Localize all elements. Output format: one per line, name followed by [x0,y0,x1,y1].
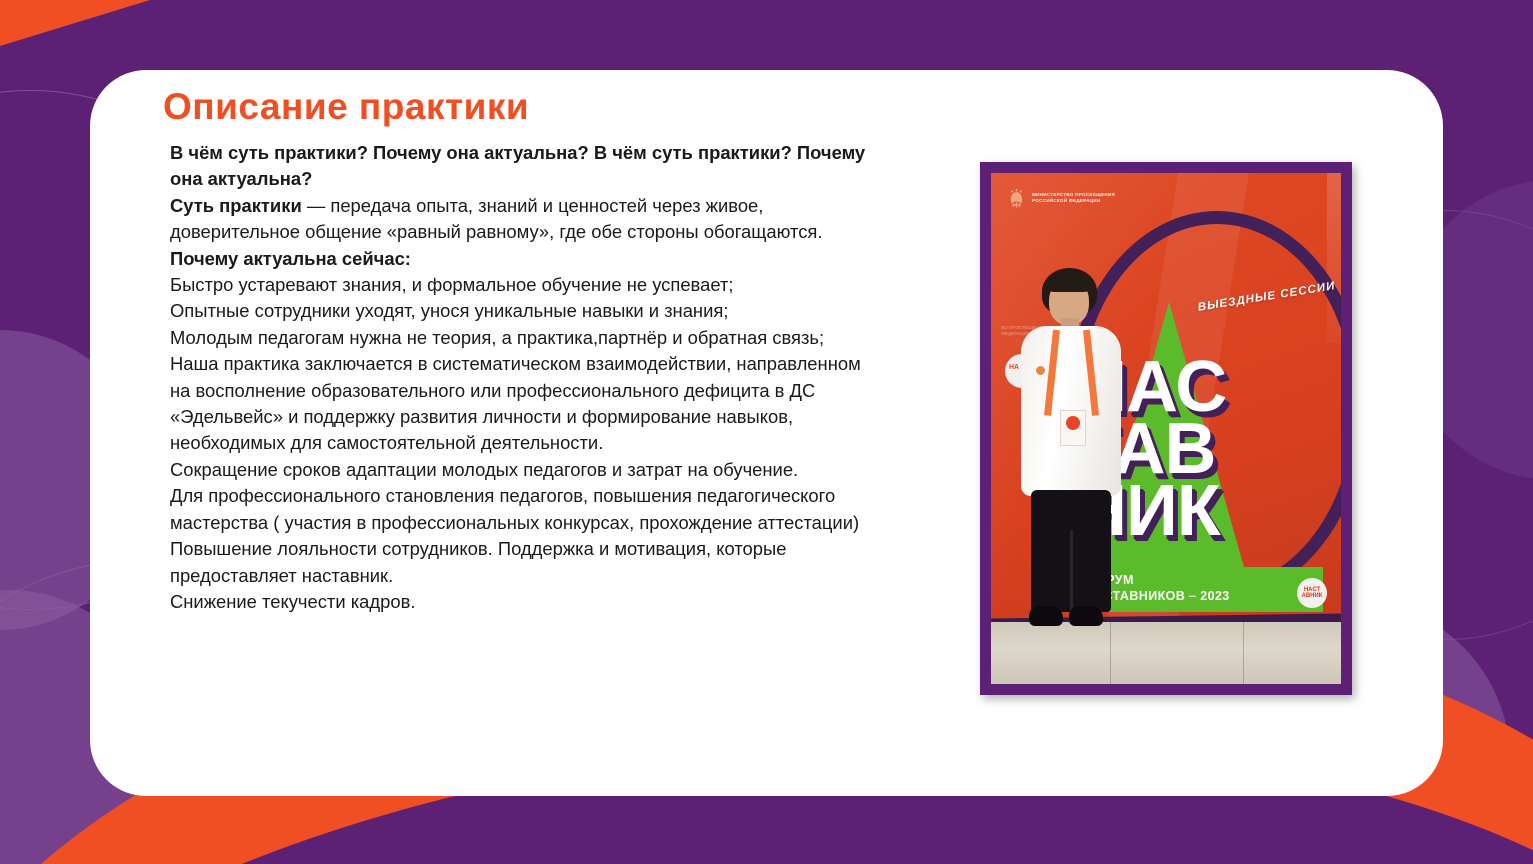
person-shoe-right [1069,606,1103,626]
body-paragraph: Для профессионального становления педаго… [170,483,870,536]
person-badge-pin [1035,365,1046,376]
person-badge-emblem [1066,416,1080,430]
body-paragraph: Опытные сотрудники уходят, унося уникаль… [170,298,870,324]
ministry-label: МИНИСТЕРСТВО ПРОСВЕЩЕНИЯ РОССИЙСКОЙ ФЕДЕ… [1032,192,1115,205]
essence-label: Суть практики [170,195,302,216]
essence-paragraph: Суть практики — передача опыта, знаний и… [170,193,870,246]
body-paragraph: Снижение текучести кадров. [170,589,870,615]
body-paragraph: Повышение лояльности сотрудников. Поддер… [170,536,870,589]
person-figure: НА [1013,268,1131,640]
forum-photo: МИНИСТЕРСТВО ПРОСВЕЩЕНИЯ РОССИЙСКОЙ ФЕДЕ… [991,173,1341,684]
banner-corner-logo: НАСТ АВНИК [1297,578,1327,608]
page-title: Описание практики [163,86,529,128]
body-paragraph: Быстро устаревают знания, и формальное о… [170,272,870,298]
body-paragraph: Наша практика заключается в систематичес… [170,351,870,457]
person-shoe-left [1029,606,1063,626]
practice-description-body: В чём суть практики? Почему она актуальн… [170,140,870,615]
presentation-slide: Описание практики В чём суть практики? П… [0,0,1533,864]
ministry-emblem-group: МИНИСТЕРСТВО ПРОСВЕЩЕНИЯ РОССИЙСКОЙ ФЕДЕ… [1007,186,1115,210]
body-paragraph: Молодым педагогам нужна не теория, а пра… [170,325,870,351]
person-hair-front [1046,272,1092,292]
double-headed-eagle-icon [1007,186,1026,210]
person-leg-split [1070,530,1073,612]
body-heading: В чём суть практики? Почему она актуальн… [170,140,870,193]
balloon-label: НА [1009,364,1019,371]
photo-frame: МИНИСТЕРСТВО ПРОСВЕЩЕНИЯ РОССИЙСКОЙ ФЕДЕ… [980,162,1352,695]
content-card: Описание практики В чём суть практики? П… [90,70,1443,796]
relevance-heading: Почему актуальна сейчас: [170,246,870,272]
body-paragraph: Сокращение сроков адаптации молодых педа… [170,457,870,483]
corner-triangle-decoration [0,0,150,46]
